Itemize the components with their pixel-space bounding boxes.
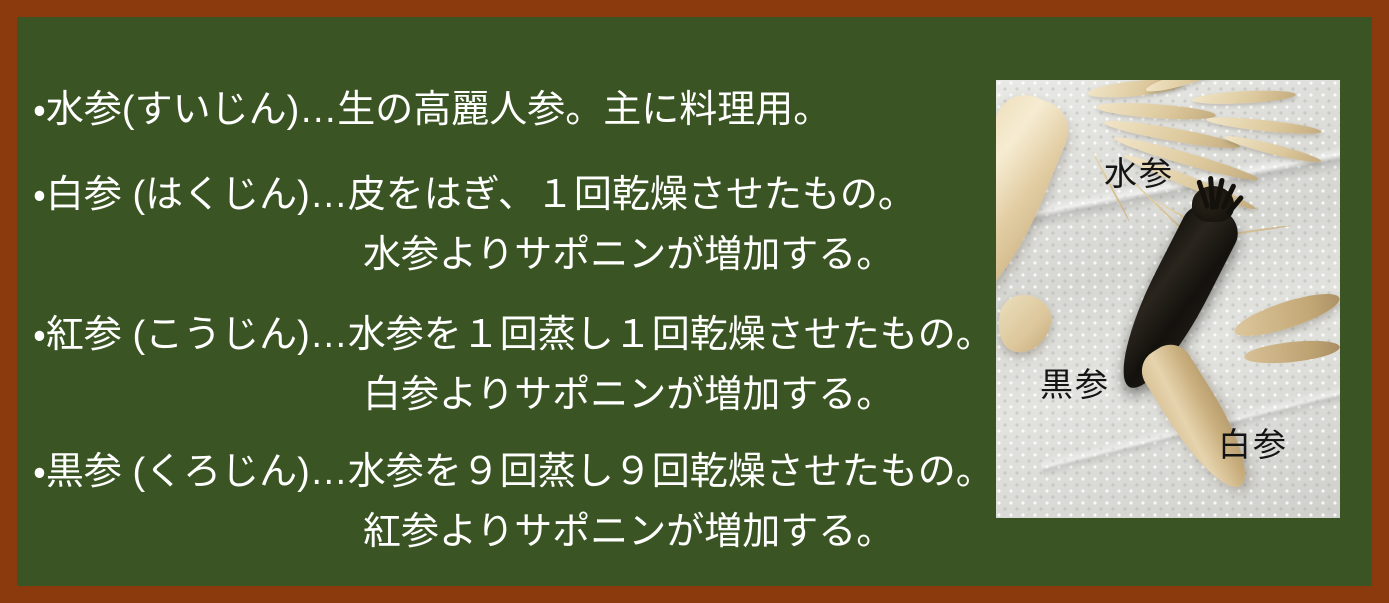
slide-frame: ・水参(すいじん)…生の高麗人参。主に料理用。 ・白参 (はくじん)…皮をはぎ、… bbox=[0, 0, 1389, 603]
photo-label-black: 黒参 bbox=[1040, 368, 1110, 401]
bullet-main-line: ・黒参 (くろじん)…水参を９回蒸し９回乾燥させたもの。 bbox=[33, 442, 1008, 502]
bullet-list: ・水参(すいじん)…生の高麗人参。主に料理用。 ・白参 (はくじん)…皮をはぎ、… bbox=[33, 17, 1008, 586]
white-ginseng-branch-secondary bbox=[1243, 337, 1340, 367]
photo-label-fresh: 水参 bbox=[1104, 157, 1174, 190]
fresh-root-tendril bbox=[1192, 89, 1296, 106]
bullet-item-kurojin: ・黒参 (くろじん)…水参を９回蒸し９回乾燥させたもの。 紅参よりサポニンが増加… bbox=[33, 442, 1008, 562]
fresh-root-tendril bbox=[1096, 100, 1217, 122]
bullet-continuation-line: 紅参よりサポニンが増加する。 bbox=[33, 502, 1008, 562]
bullet-item-suijin: ・水参(すいじん)…生の高麗人参。主に料理用。 bbox=[33, 80, 1008, 140]
bullet-continuation-line: 水参よりサポニンが増加する。 bbox=[33, 225, 1008, 285]
bullet-main-line: ・水参(すいじん)…生の高麗人参。主に料理用。 bbox=[33, 80, 1008, 140]
bullet-continuation-line: 白参よりサポニンが増加する。 bbox=[33, 365, 1008, 425]
photo-label-white: 白参 bbox=[1218, 428, 1288, 461]
bullet-item-kojin: ・紅参 (こうじん)…水参を１回蒸し１回乾燥させたもの。 白参よりサポニンが増加… bbox=[33, 305, 1008, 425]
photo-background-towel: 水参 黒参 白参 bbox=[996, 80, 1340, 518]
slide-content-panel: ・水参(すいじん)…生の高麗人参。主に料理用。 ・白参 (はくじん)…皮をはぎ、… bbox=[17, 17, 1372, 586]
fresh-ginseng-root-tip bbox=[996, 290, 1056, 359]
bullet-main-line: ・紅参 (こうじん)…水参を１回蒸し１回乾燥させたもの。 bbox=[33, 305, 1008, 365]
bullet-main-line: ・白参 (はくじん)…皮をはぎ、１回乾燥させたもの。 bbox=[33, 165, 1008, 225]
white-ginseng-branch bbox=[1231, 286, 1340, 345]
fresh-root-tendril bbox=[1205, 114, 1322, 137]
bullet-item-hakujin: ・白参 (はくじん)…皮をはぎ、１回乾燥させたもの。 水参よりサポニンが増加する… bbox=[33, 165, 1008, 285]
ginseng-photo: 水参 黒参 白参 bbox=[996, 80, 1340, 518]
